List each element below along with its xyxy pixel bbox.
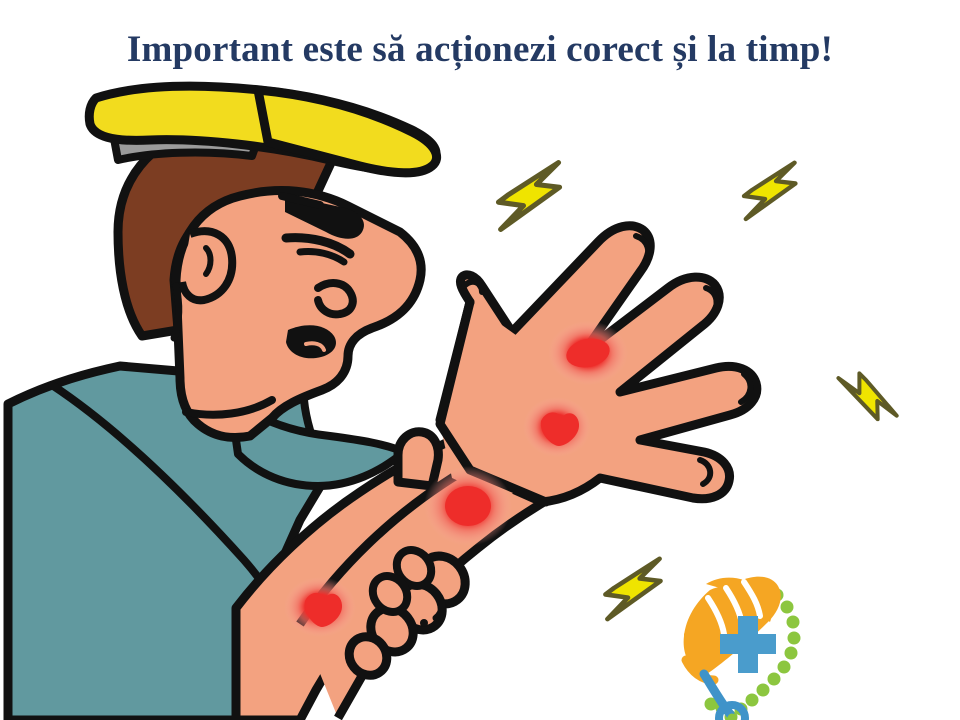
- lightning-bolt-top-right: [736, 150, 802, 231]
- safety-health-heart-logo: [684, 577, 801, 720]
- lightning-bolt-bottom: [597, 545, 668, 632]
- logo-hard-hat: [684, 577, 781, 680]
- worker-face: [176, 191, 421, 438]
- electric-shock-worker-illustration: [0, 0, 960, 720]
- lightning-bolt-right: [831, 369, 904, 424]
- slide-canvas: Important este să acționezi corect și la…: [0, 0, 960, 720]
- lightning-bolt-top-left: [489, 147, 568, 244]
- burn-mark-forearm-core: [445, 486, 491, 526]
